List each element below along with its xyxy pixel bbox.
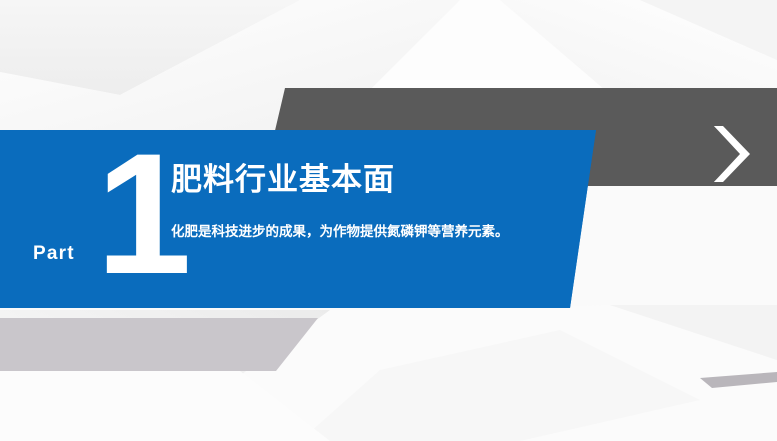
part-number: 1 (96, 128, 188, 300)
slide-subtitle: 化肥是科技进步的成果，为作物提供氮磷钾等营养元素。 (171, 221, 531, 242)
bottom-right-gray-sliver (700, 372, 777, 388)
light-gray-band (0, 318, 318, 371)
presentation-slide: Part 1 肥料行业基本面 化肥是科技进步的成果，为作物提供氮磷钾等营养元素。 (0, 0, 777, 441)
blue-banner (0, 130, 596, 308)
slide-title: 肥料行业基本面 (171, 161, 395, 199)
part-label: Part (33, 243, 75, 265)
